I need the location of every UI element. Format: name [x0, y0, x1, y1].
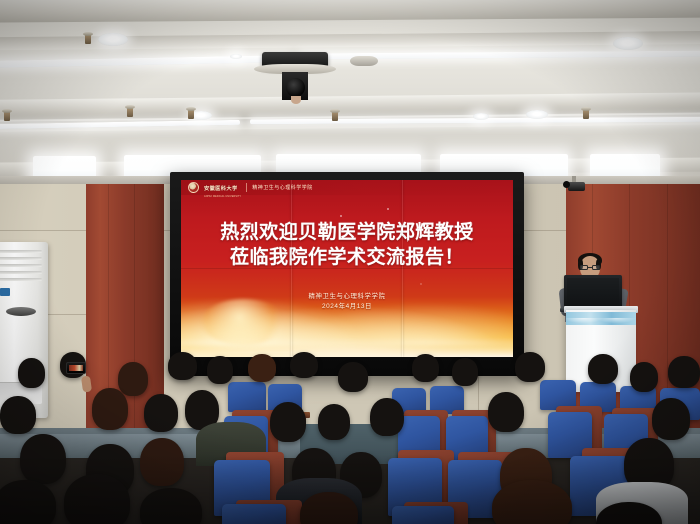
projector-nose: [291, 96, 301, 104]
laptop-screen: [567, 278, 619, 307]
slide-organizer: 精神卫生与心理科学学院: [181, 292, 513, 302]
sprinkler-head: [127, 108, 133, 117]
ceiling-speaker-dome: [350, 56, 378, 66]
audience-head: [652, 398, 690, 440]
audience-head: [488, 392, 524, 432]
lecture-hall-photograph: 安徽医科大学 ANHUI MEDICAL UNIVERSITY 精神卫生与心理科…: [0, 0, 700, 524]
slide-date: 2024年4月13日: [181, 302, 513, 312]
led-tile-seam: [181, 268, 513, 269]
audience-head: [452, 358, 478, 386]
led-video-wall-screen[interactable]: 安徽医科大学 ANHUI MEDICAL UNIVERSITY 精神卫生与心理科…: [181, 180, 513, 357]
auditorium-seat[interactable]: [392, 506, 454, 524]
audience-head: [492, 480, 572, 524]
header-divider: [246, 183, 247, 192]
slide-title: 热烈欢迎贝勒医学院郑辉教授 莅临我院作学术交流报告！: [181, 220, 513, 270]
ac-display-panel: [6, 307, 36, 316]
university-name: 安徽医科大学: [204, 186, 238, 192]
auditorium-seat[interactable]: [222, 504, 286, 524]
audience-head: [92, 388, 128, 430]
audience-head: [140, 438, 184, 486]
slide-subtitle: 精神卫生与心理科学学院 2024年4月13日: [181, 292, 513, 312]
ceiling-beam: [0, 0, 700, 23]
university-name-english: ANHUI MEDICAL UNIVERSITY: [204, 195, 241, 198]
wall-panel-seam: [0, 230, 86, 231]
audience-head: [412, 354, 439, 382]
audience-head: [64, 474, 130, 524]
university-name-block: 安徽医科大学 ANHUI MEDICAL UNIVERSITY: [204, 180, 241, 198]
audience-head: [18, 358, 45, 388]
phone-recording[interactable]: [66, 362, 86, 374]
audience-head: [207, 356, 233, 384]
wall-security-camera-icon: [568, 182, 585, 191]
audience-area: [0, 352, 700, 524]
audience-hand: [81, 375, 92, 392]
audience-head: [588, 354, 618, 384]
audience-head: [318, 404, 350, 440]
sprinkler-head: [188, 110, 194, 119]
audience-head: [140, 488, 202, 524]
audience-head: [248, 354, 276, 382]
audience-head: [0, 396, 36, 434]
welcome-slide: 安徽医科大学 ANHUI MEDICAL UNIVERSITY 精神卫生与心理科…: [181, 180, 513, 357]
slide-header: 安徽医科大学 ANHUI MEDICAL UNIVERSITY 精神卫生与心理科…: [181, 180, 513, 195]
lectern-wave-graphic: [566, 312, 636, 325]
audience-head: [118, 362, 148, 396]
projector-lens-icon: [286, 78, 305, 97]
audience-head: [630, 362, 658, 392]
ac-badge: [0, 288, 10, 296]
audience-head: [0, 480, 56, 524]
ceiling-downlight: [98, 33, 128, 46]
ceiling-strip-light: [0, 55, 290, 68]
sprinkler-head: [85, 35, 91, 44]
eyeglasses-icon: [580, 265, 600, 270]
ceiling-downlight: [473, 113, 489, 120]
university-seal-icon: [188, 182, 199, 193]
audience-head: [515, 352, 545, 382]
sprinkler-head: [332, 112, 338, 121]
audience-head: [668, 356, 700, 388]
slide-title-line-2: 莅临我院作学术交流报告！: [181, 245, 513, 270]
audience-head: [20, 434, 66, 484]
slide-title-line-1: 热烈欢迎贝勒医学院郑辉教授: [181, 220, 513, 245]
audience-head: [370, 398, 404, 436]
audience-head: [168, 352, 197, 380]
ceiling-downlight: [230, 54, 242, 59]
auditorium-seat[interactable]: [228, 382, 266, 412]
audience-head: [144, 394, 178, 432]
ceiling-downlight: [526, 110, 548, 119]
ceiling-downlight: [613, 37, 643, 50]
phone-screen: [69, 365, 83, 371]
audience-head: [338, 362, 368, 392]
audience-head: [270, 402, 306, 442]
college-name: 精神卫生与心理科学学院: [252, 184, 313, 191]
sprinkler-head: [4, 112, 10, 121]
audience-head: [290, 352, 318, 378]
sprinkler-head: [583, 110, 589, 119]
